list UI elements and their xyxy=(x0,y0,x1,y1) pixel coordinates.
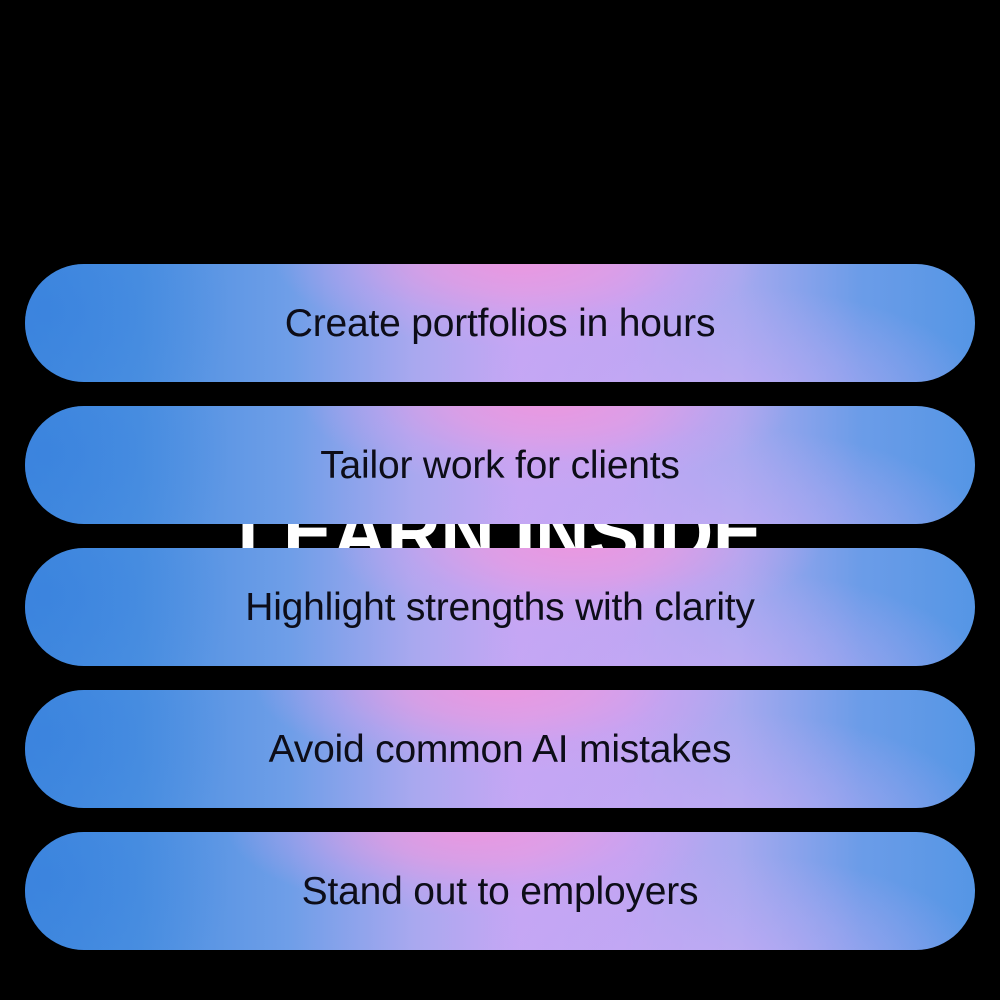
benefit-pill-label: Stand out to employers xyxy=(302,872,699,911)
benefit-pill[interactable]: Stand out to employers xyxy=(25,832,975,950)
benefit-pill-label: Create portfolios in hours xyxy=(285,304,716,343)
benefit-pill[interactable]: Highlight strengths with clarity xyxy=(25,548,975,666)
benefit-pill[interactable]: Tailor work for clients xyxy=(25,406,975,524)
benefit-pill-label: Highlight strengths with clarity xyxy=(245,588,754,627)
benefit-pill-label: Tailor work for clients xyxy=(320,446,680,485)
benefit-pill-list: Create portfolios in hours Tailor work f… xyxy=(25,264,975,950)
benefit-pill[interactable]: Avoid common AI mistakes xyxy=(25,690,975,808)
poster-canvas: WHAT YOU’LL LEARN INSIDE Create portfoli… xyxy=(0,0,1000,1000)
benefit-pill-label: Avoid common AI mistakes xyxy=(269,730,732,769)
benefit-pill[interactable]: Create portfolios in hours xyxy=(25,264,975,382)
